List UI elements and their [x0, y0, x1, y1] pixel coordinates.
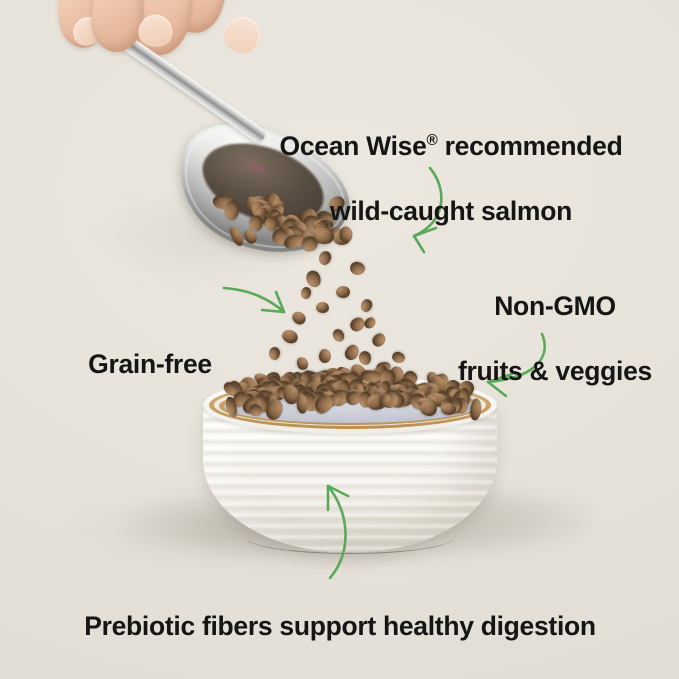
registered-trademark-icon: ®: [427, 133, 438, 150]
kibble-piece: [336, 286, 350, 298]
callout-non-gmo-line1: Non-GMO: [494, 291, 616, 321]
callout-label-non-gmo: Non-GMO fruits & veggies: [443, 258, 667, 387]
kibble-piece: [317, 249, 333, 266]
kibble-piece: [339, 226, 353, 243]
callout-label-prebiotic: Prebiotic fibers support healthy digesti…: [48, 578, 632, 643]
kibble-piece: [390, 350, 406, 365]
callout-non-gmo-line2: fruits & veggies: [458, 356, 652, 386]
kibble-piece: [362, 315, 378, 330]
arrow-prebiotic: [298, 470, 378, 582]
kibble-piece: [331, 327, 347, 344]
kibble-pile-in-bowl: [221, 368, 479, 430]
kibble-piece: [358, 350, 372, 366]
product-photo-canvas: Ocean Wise® recommended wild-caught salm…: [0, 0, 679, 679]
callout-salmon-line2: wild-caught salmon: [330, 196, 572, 226]
callout-label-salmon: Ocean Wise® recommended wild-caught salm…: [254, 98, 648, 227]
kibble-piece: [359, 297, 374, 313]
callout-label-grain-free: Grain-free: [66, 316, 234, 381]
arrow-grain-free: [222, 284, 322, 334]
kibble-piece: [370, 331, 388, 349]
callout-prebiotic-line1: Prebiotic fibers support healthy digesti…: [84, 611, 596, 641]
callout-salmon-line1-head: Ocean Wise: [280, 131, 427, 161]
kibble-piece: [349, 260, 367, 276]
kibble-piece: [269, 347, 281, 361]
kibble-piece: [319, 349, 331, 363]
callout-salmon-line1-tail: recommended: [438, 131, 623, 161]
callout-grain-free-line1: Grain-free: [88, 349, 212, 379]
